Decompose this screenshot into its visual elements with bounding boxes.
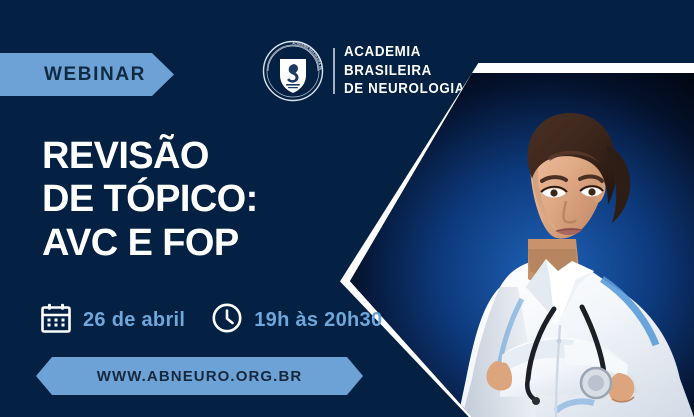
abn-logo-text: ACADEMIA BRASILEIRA DE NEUROLOGIA — [344, 43, 465, 98]
event-time: 19h às 20h30 — [211, 302, 382, 339]
event-meta-row: 26 de abril 19h às 20h30 — [40, 300, 382, 340]
abn-circular-seal-icon: ACADEMIA BRASILEIRA DE NEUROLOGIA — [262, 40, 324, 102]
clock-icon — [211, 302, 243, 339]
event-date-label: 26 de abril — [83, 309, 185, 332]
female-doctor-with-stethoscope-photo — [350, 73, 694, 417]
abn-logo-line-1: ACADEMIA — [344, 43, 465, 61]
logo-divider — [333, 48, 335, 94]
event-date: 26 de abril — [40, 302, 185, 339]
calendar-icon — [40, 302, 72, 339]
abn-logo: ACADEMIA BRASILEIRA DE NEUROLOGIA ACADEM… — [262, 40, 476, 102]
title-line-2: DE TÓPICO: — [42, 178, 342, 221]
webinar-badge: WEBINAR — [0, 53, 174, 96]
website-url-label: WWW.ABNEURO.ORG.BR — [97, 368, 303, 385]
abn-logo-line-3: DE NEUROLOGIA — [344, 80, 465, 98]
webinar-badge-label: WEBINAR — [44, 64, 146, 86]
webinar-banner: WEBINAR ACADEMIA BRASILEIRA DE NEUROLOGI… — [0, 0, 694, 417]
event-time-label: 19h às 20h30 — [254, 309, 382, 332]
page-title: REVISÃO DE TÓPICO: AVC E FOP — [42, 135, 342, 265]
website-url-bar[interactable]: WWW.ABNEURO.ORG.BR — [36, 357, 363, 395]
title-line-3: AVC E FOP — [42, 222, 342, 265]
title-line-1: REVISÃO — [42, 135, 342, 178]
abn-logo-line-2: BRASILEIRA — [344, 62, 465, 80]
